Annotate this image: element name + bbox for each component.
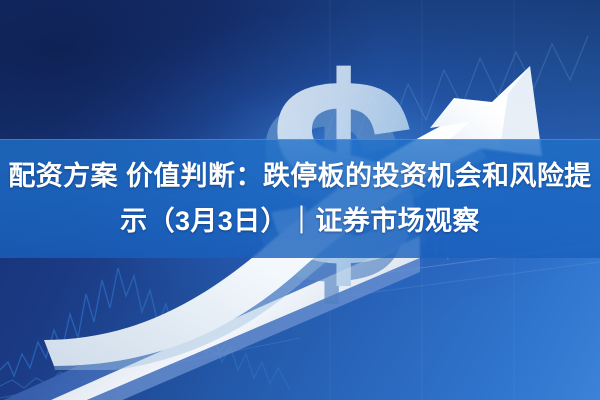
title-line-1: 配资方案 价值判断：跌停板的投资机会和风险提 [8, 154, 591, 198]
page-title: 配资方案 价值判断：跌停板的投资机会和风险提 示（3月3日）｜证券市场观察 [0, 139, 600, 258]
title-line-2: 示（3月3日）｜证券市场观察 [120, 199, 480, 243]
banner-image: $ $ [0, 0, 600, 400]
